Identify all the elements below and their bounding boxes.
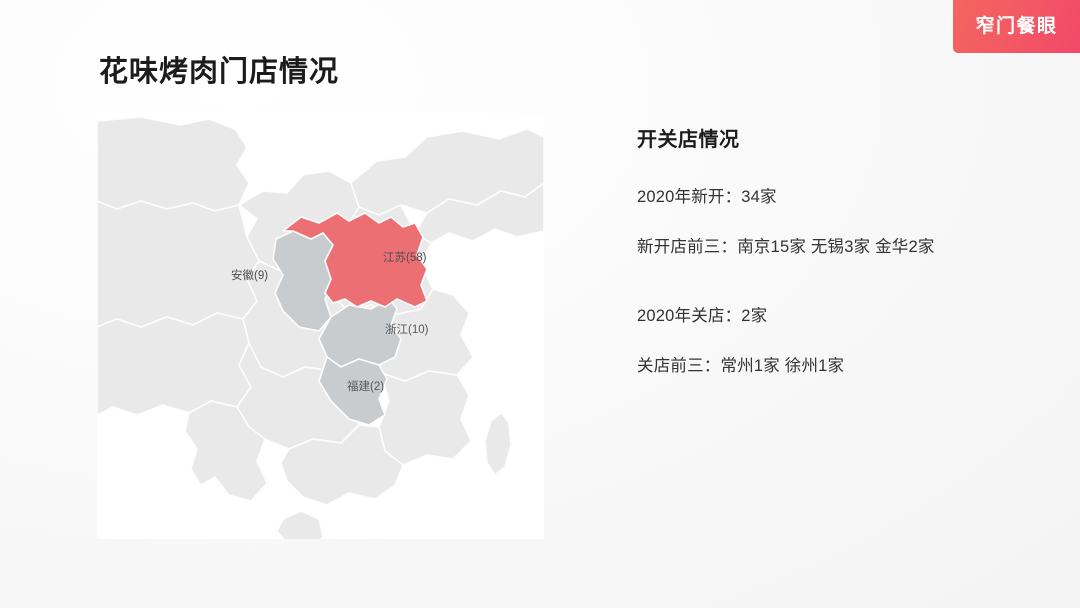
- closures-total-line: 2020年关店：2家: [637, 305, 1037, 328]
- map-label-fujian: 福建(2): [347, 379, 384, 393]
- openings-top3-line: 新开店前三：南京15家 无锡3家 金华2家: [637, 236, 1037, 259]
- page-title: 花味烤肉门店情况: [99, 54, 339, 92]
- brand-badge: 窄门餐眼: [953, 0, 1080, 53]
- map-label-jiangsu: 江苏(58): [383, 251, 427, 264]
- province-shape-base-wc1: [97, 201, 259, 327]
- province-shape-base-nw1: [97, 117, 249, 211]
- province-shape-base-hainan: [277, 511, 323, 539]
- province-shape-base-w2: [97, 313, 251, 415]
- province-shape-base-taiwan: [485, 413, 511, 475]
- store-status-heading: 开关店情况: [637, 126, 1037, 154]
- province-shape-base-jiangxi: [379, 371, 471, 465]
- openings-total-line: 2020年新开：34家: [637, 186, 1037, 209]
- china-map-svg: 江苏(58) 安徽(9) 浙江(10) 福建(2): [97, 113, 544, 539]
- slide-canvas: 窄门餐眼 花味烤肉门店情况: [0, 0, 1080, 608]
- map-label-zhejiang: 浙江(10): [385, 323, 429, 336]
- china-map-panel: 江苏(58) 安徽(9) 浙江(10) 福建(2): [97, 113, 544, 539]
- brand-badge-label: 窄门餐眼: [975, 17, 1057, 36]
- closures-top3-line: 关店前三：常州1家 徐州1家: [637, 355, 1037, 378]
- store-status-panel: 开关店情况 2020年新开：34家 新开店前三：南京15家 无锡3家 金华2家 …: [637, 126, 1037, 378]
- map-label-anhui: 安徽(9): [231, 268, 268, 282]
